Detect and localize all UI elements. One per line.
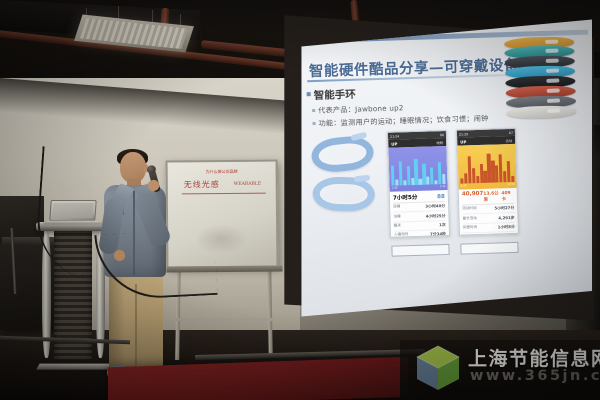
- whiteboard-crossbar: [176, 318, 272, 321]
- activity-row-label: 活动时间: [462, 206, 477, 212]
- phone-battery-left: 88: [440, 133, 444, 137]
- phone-battery-right: 87: [509, 130, 513, 134]
- activity-calories: 409卡: [501, 191, 514, 202]
- sleep-stats: 7小时5分 88 深睡3小时40分 浅睡4小时25分 醒来1次 入睡用时7分34…: [390, 190, 450, 238]
- phone-app-name-left: UP: [391, 141, 397, 146]
- phone-screenshot-activity: 21:29 87 UP 运动: [456, 128, 519, 236]
- sleep-row-label: 醒来: [394, 223, 401, 229]
- activity-distance: 13.6公里: [483, 190, 501, 203]
- slide-bullet-product: 代表产品：Jawbone up2: [318, 103, 404, 116]
- sleep-total: 7小时5分: [393, 193, 418, 202]
- phone-app-name-right: UP: [460, 139, 466, 144]
- phone-nav-label-right: 运动: [505, 137, 512, 142]
- slide-caption-box-left: [391, 244, 449, 257]
- presentation-slide: 智能硬件酷品分享—可穿戴设备 智能手环 代表产品：Jawbone up2 功能：…: [300, 18, 592, 318]
- activity-chart-bars: [460, 150, 515, 184]
- bracelet-photo-top: [310, 134, 375, 174]
- activity-row-label: 闲置时间: [463, 225, 478, 231]
- activity-row-value: 5小时27分: [494, 205, 514, 212]
- activity-row-value: 1小时8分: [498, 224, 515, 231]
- slide-bullet-main: 智能手环: [313, 87, 355, 103]
- phone-nav-label-left: 睡眠: [436, 140, 443, 145]
- cube-logo-icon: [412, 342, 464, 394]
- sleep-row-value: 1次: [439, 222, 446, 228]
- sleep-row-value: 3小时40分: [425, 203, 445, 210]
- activity-chart: 6:0023:00: [457, 144, 516, 190]
- sleep-chart-bars: [391, 152, 446, 186]
- activity-row-label: 静止燃烧: [463, 234, 478, 235]
- activity-chart-axis: 6:0023:00: [461, 183, 515, 188]
- sleep-row-label: 浅睡: [393, 214, 400, 220]
- activity-row-value: 4,291步: [498, 214, 514, 220]
- sleep-row: 入睡用时7分34秒: [394, 230, 446, 238]
- slide-caption-box-right: [460, 242, 518, 255]
- activity-stats: 40,907 13.6公里 409卡 活动时间5小时27分 最长活动4,291步…: [459, 188, 519, 236]
- sleep-row-value: 7分34秒: [430, 231, 446, 237]
- phone-time-left: 21:24: [390, 134, 399, 138]
- sleep-row-label: 深睡: [393, 205, 400, 211]
- watermark: 上海节能信息网 www.365jn.cn: [408, 338, 600, 400]
- whiteboard-text-line1: 为什么做公司品牌: [206, 169, 238, 175]
- phone-time-right: 21:29: [459, 132, 468, 136]
- sleep-row-label: 入睡用时: [394, 232, 409, 237]
- sleep-chart-axis: 1:307:45: [392, 185, 446, 190]
- bracelet-stack-image: [504, 36, 581, 122]
- sleep-row-value: 4小时25分: [426, 213, 446, 220]
- activity-steps: 40,907: [462, 191, 484, 198]
- bracelet-photo-bottom: [312, 176, 375, 211]
- watermark-url: www.365jn.cn: [470, 368, 600, 384]
- phone-screenshot-sleep: 21:24 88 UP 睡眠: [387, 130, 450, 238]
- presentation-photo: 智能硬件酷品分享—可穿戴设备 智能手环 代表产品：Jawbone up2 功能：…: [0, 0, 600, 400]
- activity-row-value: 2,999千卡: [495, 233, 515, 235]
- activity-row-label: 最长活动: [462, 216, 477, 222]
- activity-row: 静止燃烧2,999千卡: [463, 232, 515, 236]
- watermark-site-name: 上海节能信息网: [468, 344, 600, 371]
- sleep-chart: 1:307:45: [388, 146, 447, 192]
- presenter-leg-shadow: [109, 272, 125, 372]
- sleep-score: 88: [437, 194, 445, 200]
- whiteboard-text-line2: 无线光感: [184, 179, 220, 190]
- whiteboard-text-line3: WEARABLE: [234, 182, 261, 187]
- projection-screen: 智能硬件酷品分享—可穿戴设备 智能手环 代表产品：Jawbone up2 功能：…: [278, 12, 598, 332]
- whiteboard-underline: [182, 193, 266, 195]
- slide-bullet-features: 功能：监测用户的运动；睡眠情况；饮食习惯；闹钟: [318, 114, 488, 129]
